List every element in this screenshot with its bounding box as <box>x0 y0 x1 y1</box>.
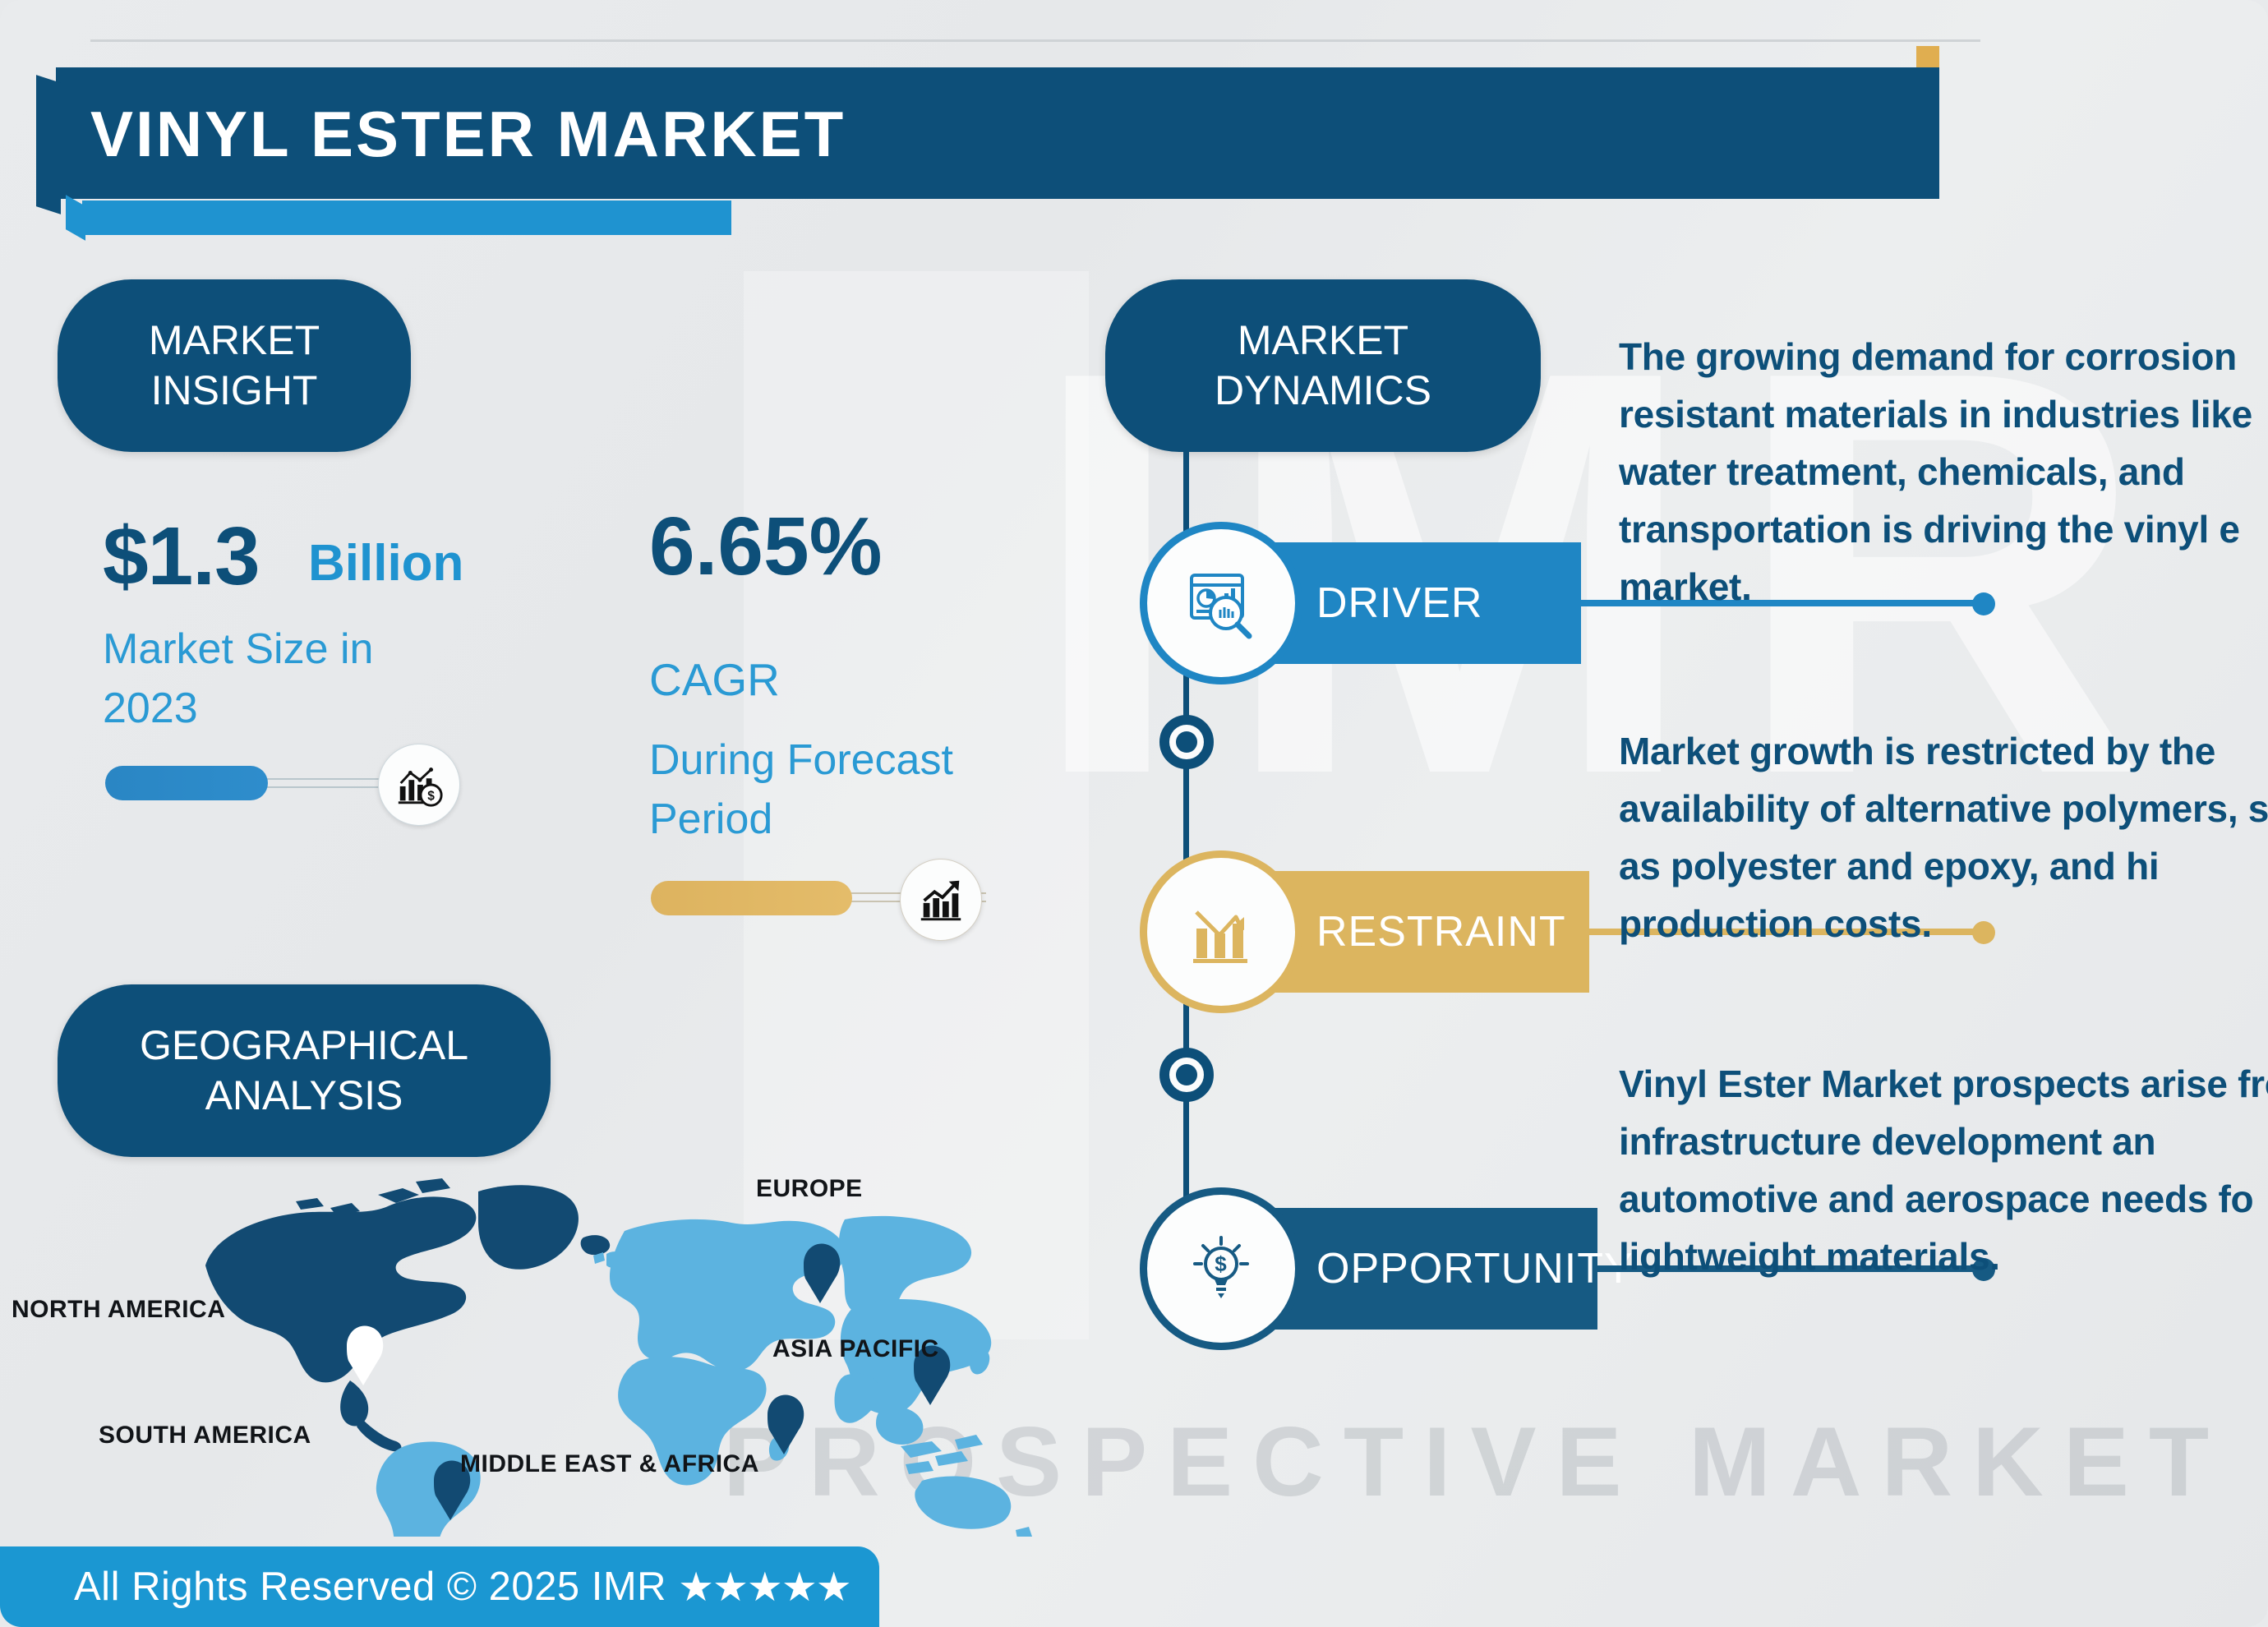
market-size-value: $1.3 <box>103 509 260 604</box>
dynamics-driver-label: DRIVER <box>1316 578 1482 628</box>
market-size-progress-fill <box>105 766 268 800</box>
map-label-europe: EUROPE <box>756 1175 863 1203</box>
title-accent-bar <box>82 200 731 235</box>
dynamics-driver-text: The growing demand for corrosion resista… <box>1619 329 2268 616</box>
header-rule <box>90 39 1980 42</box>
market-size-unit: Billion <box>308 534 463 592</box>
geographical-analysis-pill: GEOGRAPHICAL ANALYSIS <box>58 984 551 1157</box>
bar-chart-dollar-icon: $ <box>378 744 460 826</box>
map-label-middle-east-africa: MIDDLE EAST & AFRICA <box>460 1450 759 1478</box>
cagr-label: CAGR <box>649 653 780 706</box>
star-rating: ★★★★★ <box>678 1564 850 1611</box>
geo-pill-line1: GEOGRAPHICAL <box>140 1021 468 1071</box>
cagr-sublabel: During Forecast Period <box>649 731 1035 850</box>
svg-text:$: $ <box>1215 1251 1227 1276</box>
dynamics-restraint-bar[interactable]: RESTRAINT <box>1187 871 1589 993</box>
growth-arrow-icon <box>900 859 982 941</box>
dynamics-opportunity-label: OPPORTUNITY <box>1316 1244 1634 1293</box>
market-insight-pill-line2: INSIGHT <box>151 366 318 416</box>
market-size-label: Market Size in 2023 <box>103 620 431 739</box>
dynamics-pill-line2: DYNAMICS <box>1215 366 1431 416</box>
svg-text:$: $ <box>427 789 435 803</box>
dynamics-driver-bar[interactable]: DRIVER <box>1187 542 1581 664</box>
map-label-asia-pacific: ASIA PACIFIC <box>772 1335 939 1363</box>
dynamics-pill-line1: MARKET <box>1238 316 1408 366</box>
lightbulb-dollar-icon: $ <box>1147 1195 1295 1343</box>
declining-bar-chart-icon <box>1147 858 1295 1006</box>
timeline-node-1 <box>1159 715 1214 769</box>
dynamics-restraint-label: RESTRAINT <box>1316 907 1566 956</box>
cagr-value: 6.65% <box>649 500 883 594</box>
geo-pill-line2: ANALYSIS <box>205 1071 403 1121</box>
market-insight-pill-line1: MARKET <box>149 316 320 366</box>
dynamics-opportunity-bar[interactable]: $ OPPORTUNITY <box>1187 1208 1597 1330</box>
cagr-progress-fill <box>651 881 852 915</box>
page-title: VINYL ESTER MARKET <box>90 97 846 172</box>
infographic-page: IMR PROSPECTIVE MARKET RESEARCH VINYL ES… <box>0 0 2268 1627</box>
timeline-node-2 <box>1159 1048 1214 1102</box>
dynamics-restraint-text: Market growth is restricted by the avail… <box>1619 723 2268 953</box>
market-insight-pill: MARKET INSIGHT <box>58 279 411 452</box>
chart-magnifier-icon <box>1147 529 1295 677</box>
footer-bar: All Rights Reserved © 2025 IMR ★★★★★ <box>0 1546 879 1627</box>
map-label-south-america: SOUTH AMERICA <box>99 1422 311 1450</box>
gold-accent-tab <box>1916 46 1939 69</box>
map-region-north-america <box>205 1178 579 1451</box>
market-dynamics-pill: MARKET DYNAMICS <box>1105 279 1541 452</box>
map-label-north-america: NORTH AMERICA <box>12 1296 225 1324</box>
dynamics-opportunity-text: Vinyl Ester Market prospects arise from … <box>1619 1056 2268 1286</box>
copyright-text: All Rights Reserved © 2025 IMR <box>74 1564 666 1610</box>
